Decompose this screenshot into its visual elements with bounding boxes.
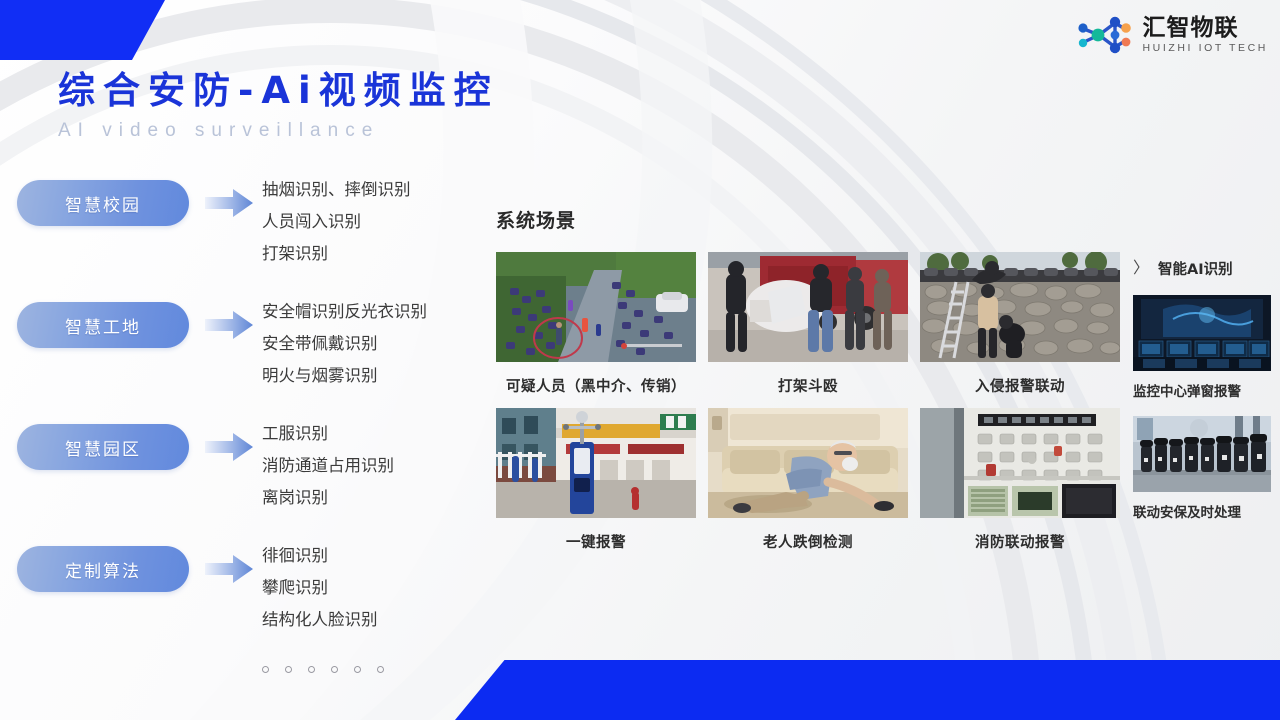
logo-name-en: HUIZHI IOT TECH bbox=[1142, 42, 1268, 54]
molecule-network-icon bbox=[1072, 14, 1134, 56]
scene-caption: 打架斗殴 bbox=[708, 375, 908, 396]
dot-icon bbox=[331, 666, 338, 673]
category-item: 攀爬识别 bbox=[262, 572, 378, 604]
scene-caption: 可疑人员（黑中介、传销） bbox=[496, 375, 696, 396]
scene-caption: 一键报警 bbox=[496, 531, 696, 552]
sidebar-caption: 监控中心弹窗报警 bbox=[1133, 380, 1273, 400]
sidebar-thumbnail-control-room-screens[interactable] bbox=[1133, 295, 1271, 371]
sidebar-item[interactable]: 监控中心弹窗报警 bbox=[1133, 295, 1273, 400]
sidebar-heading: 〉 智能AI识别 bbox=[1133, 258, 1273, 279]
category-row: 智慧工地 安全帽识别反光衣识别 安全带佩戴识别 明火与烟雾识别 bbox=[0, 302, 470, 424]
category-items: 抽烟识别、摔倒识别 人员闯入识别 打架识别 bbox=[262, 174, 411, 271]
category-item: 结构化人脸识别 bbox=[262, 604, 378, 636]
scene-cell[interactable]: 老人跌倒检测 bbox=[708, 408, 908, 552]
category-pill-smart-campus[interactable]: 智慧校园 bbox=[17, 180, 189, 226]
dot-icon bbox=[354, 666, 361, 673]
sidebar-heading-label: 智能AI识别 bbox=[1158, 258, 1233, 279]
scene-row: 可疑人员（黑中介、传销） bbox=[496, 252, 1120, 396]
scenes-title: 系统场景 bbox=[496, 206, 576, 233]
scene-cell[interactable]: 消防联动报警 bbox=[920, 408, 1120, 552]
page-subtitle: AI video surveillance bbox=[58, 120, 499, 142]
category-item: 安全带佩戴识别 bbox=[262, 328, 427, 360]
title-block: 综合安防-Ai视频监控 AI video surveillance bbox=[58, 70, 499, 142]
scene-thumbnail-wall-ladder-intrusion[interactable] bbox=[920, 252, 1120, 362]
category-row: 智慧校园 抽烟识别、摔倒识别 人员闯入识别 打架识别 bbox=[0, 180, 470, 302]
scene-cell[interactable]: 可疑人员（黑中介、传销） bbox=[496, 252, 696, 396]
ellipsis-dots bbox=[262, 666, 384, 673]
dot-icon bbox=[285, 666, 292, 673]
sidebar-thumbnail-security-guards-lineup[interactable] bbox=[1133, 416, 1271, 492]
slide: 综合安防-Ai视频监控 AI video surveillance bbox=[0, 0, 1280, 720]
scene-thumbnail-street-crowd-surveillance[interactable] bbox=[496, 252, 696, 362]
arrow-right-icon bbox=[205, 432, 253, 462]
page-title: 综合安防-Ai视频监控 bbox=[58, 70, 499, 111]
scene-caption: 消防联动报警 bbox=[920, 531, 1120, 552]
ai-recognition-sidebar: 〉 智能AI识别 bbox=[1133, 258, 1273, 537]
category-pill-label: 智慧工地 bbox=[65, 313, 141, 338]
scene-cell[interactable]: 打架斗殴 bbox=[708, 252, 908, 396]
sidebar-item[interactable]: 联动安保及时处理 bbox=[1133, 416, 1273, 521]
category-items: 工服识别 消防通道占用识别 离岗识别 bbox=[262, 418, 394, 515]
category-pill-smart-construction-site[interactable]: 智慧工地 bbox=[17, 302, 189, 348]
category-item: 消防通道占用识别 bbox=[262, 450, 394, 482]
category-item: 徘徊识别 bbox=[262, 540, 378, 572]
category-pill-custom-algorithm[interactable]: 定制算法 bbox=[17, 546, 189, 592]
brand-logo: 汇智物联 HUIZHI IOT TECH bbox=[1072, 14, 1268, 56]
scene-cell[interactable]: 入侵报警联动 bbox=[920, 252, 1120, 396]
category-item: 安全帽识别反光衣识别 bbox=[262, 296, 427, 328]
chevron-right-icon: 〉 bbox=[1133, 261, 1149, 277]
scene-row: 一键报警 bbox=[496, 408, 1120, 552]
scene-grid: 可疑人员（黑中介、传销） bbox=[496, 252, 1120, 564]
category-item: 抽烟识别、摔倒识别 bbox=[262, 174, 411, 206]
category-items: 安全帽识别反光衣识别 安全带佩戴识别 明火与烟雾识别 bbox=[262, 296, 427, 393]
category-pill-label: 智慧校园 bbox=[65, 191, 141, 216]
category-item: 明火与烟雾识别 bbox=[262, 360, 427, 392]
logo-text-block: 汇智物联 HUIZHI IOT TECH bbox=[1142, 16, 1268, 54]
category-item: 打架识别 bbox=[262, 238, 411, 270]
category-pill-label: 定制算法 bbox=[65, 557, 141, 582]
category-pill-smart-park[interactable]: 智慧园区 bbox=[17, 424, 189, 470]
category-item: 工服识别 bbox=[262, 418, 394, 450]
sidebar-caption: 联动安保及时处理 bbox=[1133, 501, 1273, 521]
arrow-right-icon bbox=[205, 554, 253, 584]
scene-cell[interactable]: 一键报警 bbox=[496, 408, 696, 552]
category-row: 定制算法 徘徊识别 攀爬识别 结构化人脸识别 bbox=[0, 546, 470, 668]
dot-icon bbox=[377, 666, 384, 673]
dot-icon bbox=[308, 666, 315, 673]
category-row: 智慧园区 工服识别 消防通道占用识别 离岗识别 bbox=[0, 424, 470, 546]
category-item: 离岗识别 bbox=[262, 482, 394, 514]
dot-icon bbox=[262, 666, 269, 673]
arrow-right-icon bbox=[205, 310, 253, 340]
scene-thumbnail-emergency-call-post[interactable] bbox=[496, 408, 696, 518]
logo-name-cn: 汇智物联 bbox=[1142, 16, 1268, 40]
category-item: 人员闯入识别 bbox=[262, 206, 411, 238]
scene-caption: 老人跌倒检测 bbox=[708, 531, 908, 552]
category-list: 智慧校园 抽烟识别、摔倒识别 人员闯入识别 打架识别 智慧工地 bbox=[0, 180, 470, 668]
scene-caption: 入侵报警联动 bbox=[920, 375, 1120, 396]
category-pill-label: 智慧园区 bbox=[65, 435, 141, 460]
scene-thumbnail-street-fight[interactable] bbox=[708, 252, 908, 362]
scene-thumbnail-fire-control-panel[interactable] bbox=[920, 408, 1120, 518]
corner-accent-bottom-right bbox=[455, 660, 1280, 720]
scene-thumbnail-elderly-fall[interactable] bbox=[708, 408, 908, 518]
category-items: 徘徊识别 攀爬识别 结构化人脸识别 bbox=[262, 540, 378, 637]
arrow-right-icon bbox=[205, 188, 253, 218]
